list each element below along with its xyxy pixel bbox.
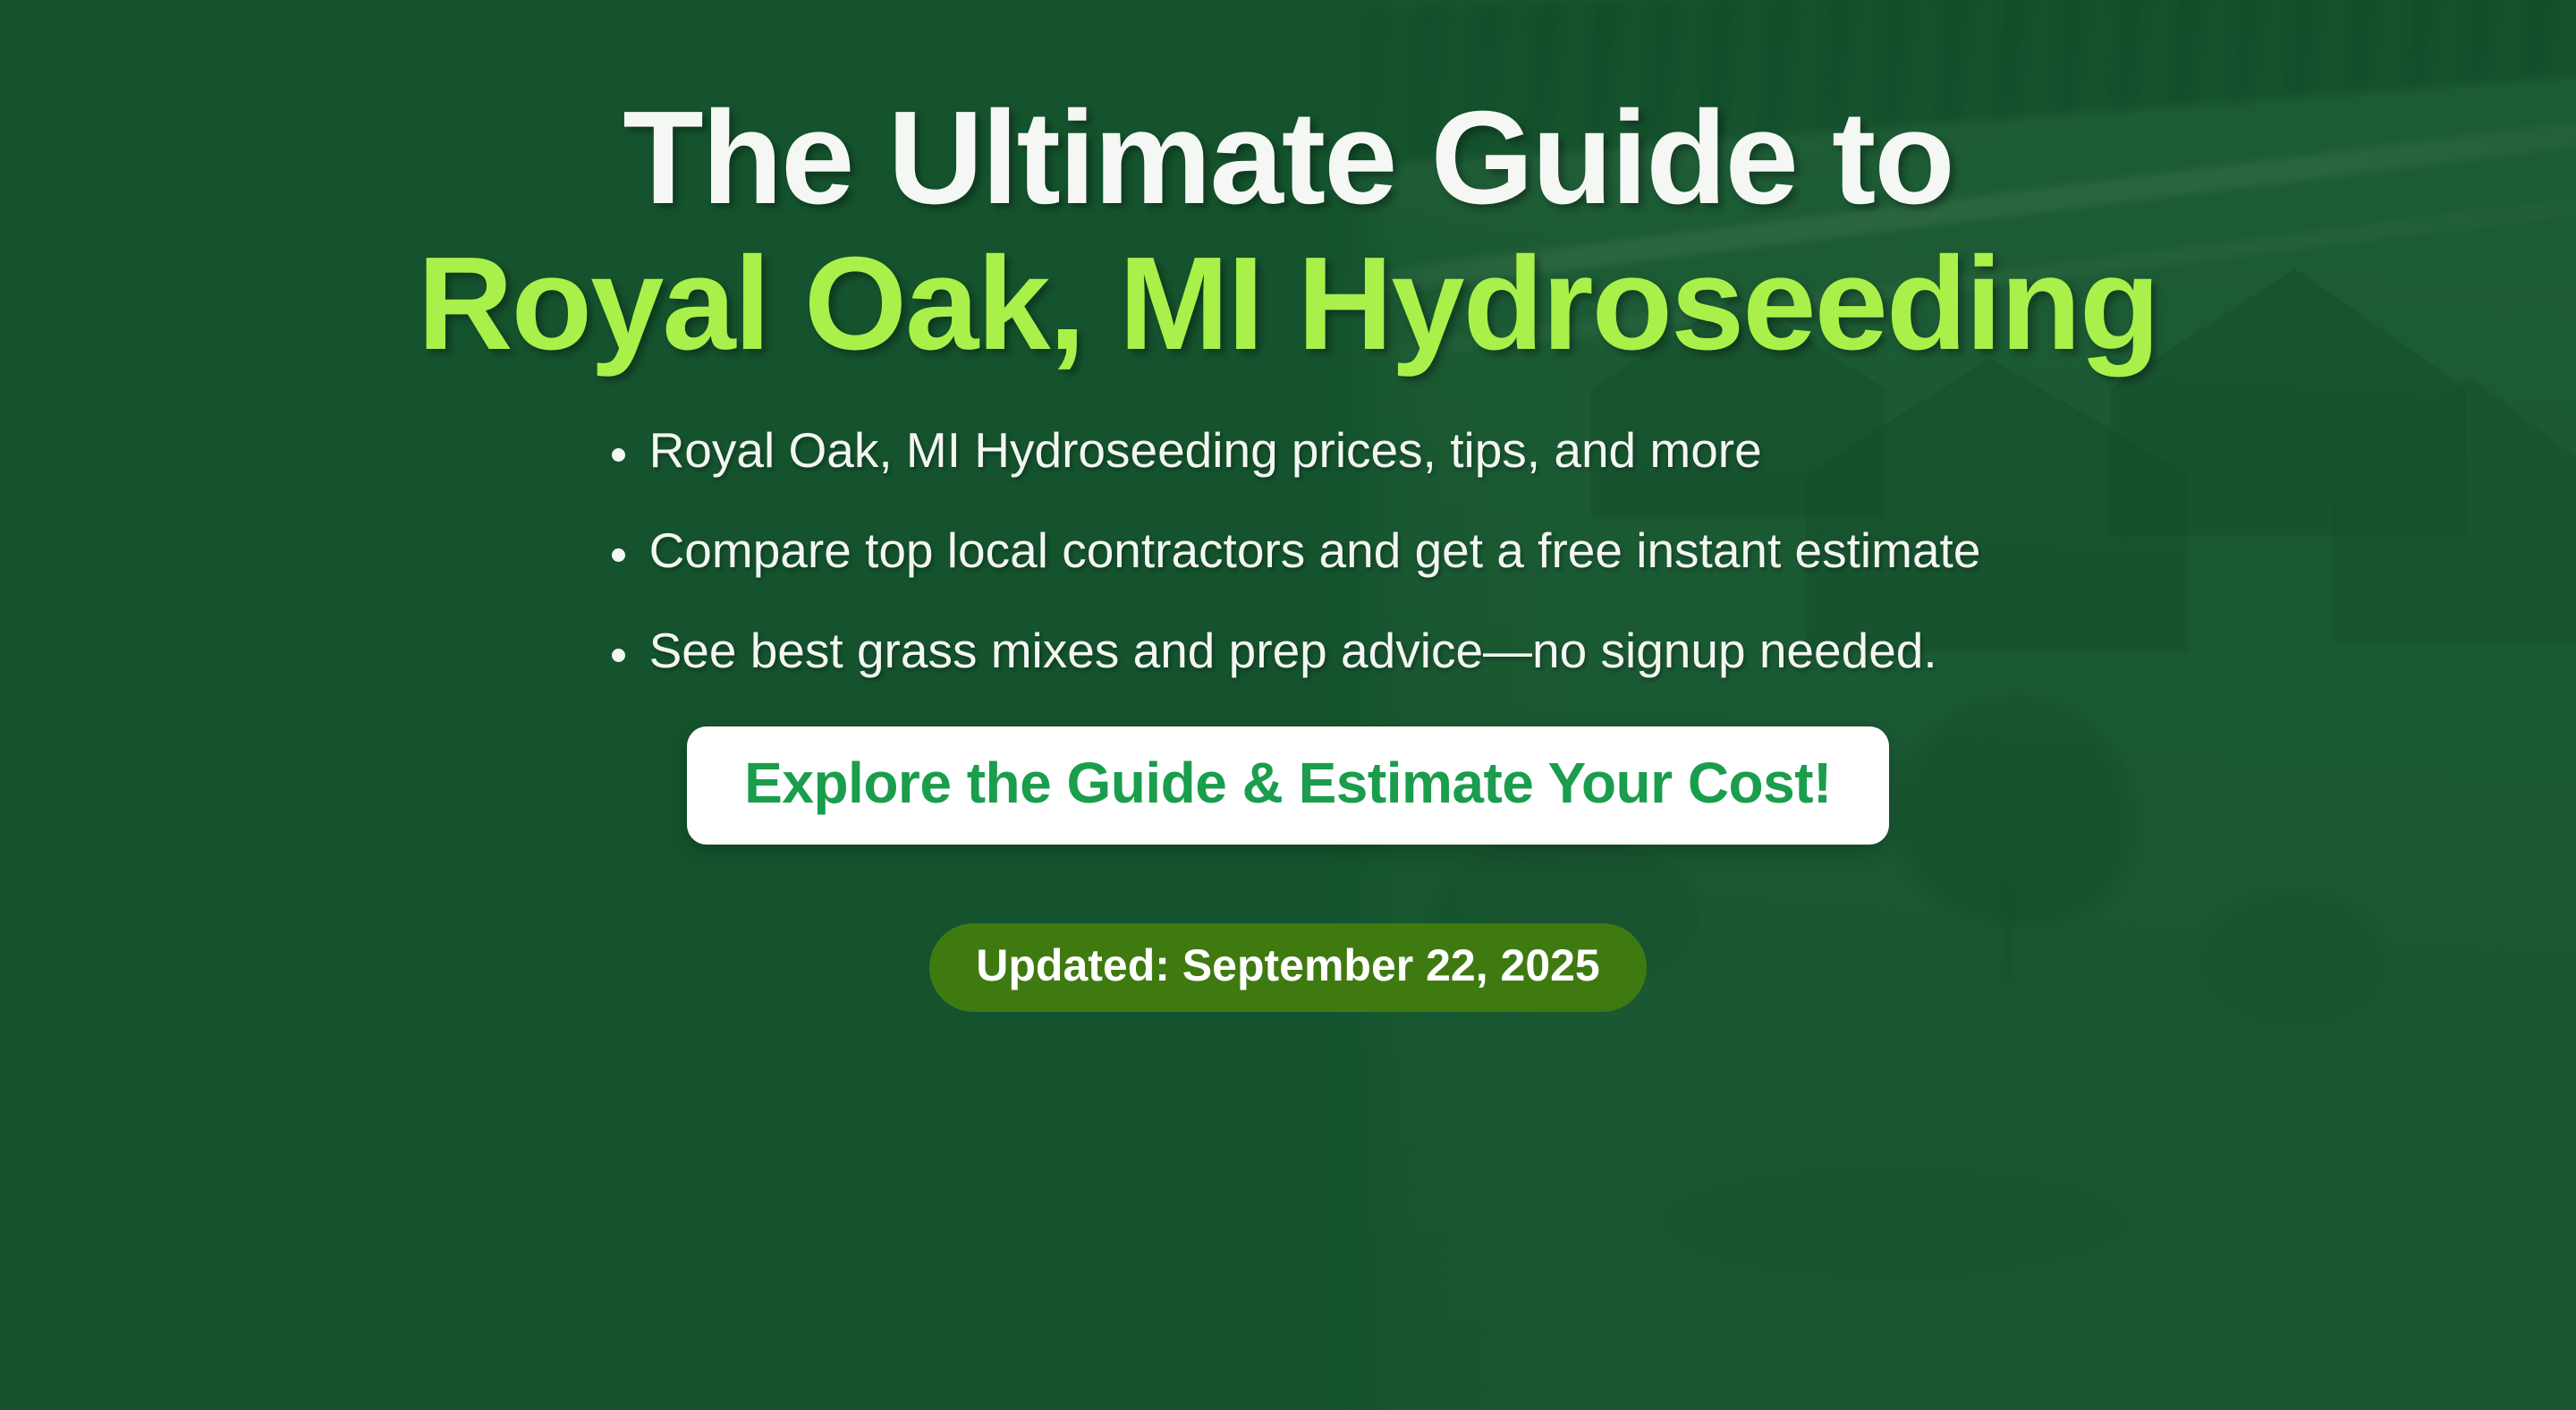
- list-item: Compare top local contractors and get a …: [596, 524, 1981, 576]
- headline-line-primary: The Ultimate Guide to: [0, 86, 2576, 232]
- bullet-dot-icon: [612, 448, 625, 462]
- list-item: See best grass mixes and prep advice—no …: [596, 624, 1981, 676]
- hero-content: The Ultimate Guide to Royal Oak, MI Hydr…: [0, 0, 2576, 1012]
- list-item-label: Royal Oak, MI Hydroseeding prices, tips,…: [649, 422, 1762, 478]
- hero-banner: The Ultimate Guide to Royal Oak, MI Hydr…: [0, 0, 2576, 1410]
- page-title: The Ultimate Guide to Royal Oak, MI Hydr…: [0, 0, 2576, 378]
- explore-guide-button[interactable]: Explore the Guide & Estimate Your Cost!: [687, 726, 1889, 845]
- headline-line-accent: Royal Oak, MI Hydroseeding: [0, 232, 2576, 378]
- list-item-label: See best grass mixes and prep advice—no …: [649, 623, 1937, 678]
- bullet-dot-icon: [612, 649, 625, 662]
- bullet-dot-icon: [612, 548, 625, 562]
- updated-date-badge: Updated: September 22, 2025: [929, 923, 1647, 1012]
- badge-container: Updated: September 22, 2025: [0, 923, 2576, 1012]
- list-item-label: Compare top local contractors and get a …: [649, 522, 1981, 578]
- cta-container: Explore the Guide & Estimate Your Cost!: [0, 726, 2576, 845]
- benefit-list: Royal Oak, MI Hydroseeding prices, tips,…: [596, 424, 1981, 677]
- list-item: Royal Oak, MI Hydroseeding prices, tips,…: [596, 424, 1981, 476]
